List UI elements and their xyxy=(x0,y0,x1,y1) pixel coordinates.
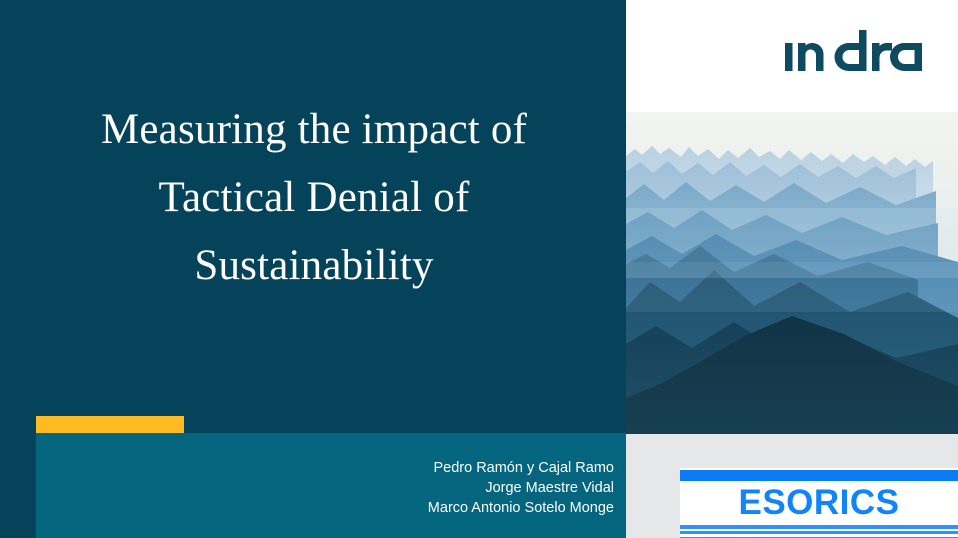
slide-title: Measuring the impact of Tactical Denial … xyxy=(24,96,604,300)
esorics-wordmark: ESORICS xyxy=(680,484,958,522)
mountain-photo xyxy=(626,112,958,434)
esorics-top-bar xyxy=(680,470,958,481)
author-name: Marco Antonio Sotelo Monge xyxy=(294,498,614,518)
author-name: Jorge Maestre Vidal xyxy=(294,478,614,498)
presentation-slide: Measuring the impact of Tactical Denial … xyxy=(0,0,958,538)
indra-logo xyxy=(784,30,924,76)
author-list: Pedro Ramón y Cajal Ramo Jorge Maestre V… xyxy=(294,458,614,518)
esorics-logo: ESORICS xyxy=(680,468,958,538)
author-name: Pedro Ramón y Cajal Ramo xyxy=(294,458,614,478)
accent-bar xyxy=(36,416,184,434)
esorics-rule xyxy=(680,525,958,529)
esorics-rule xyxy=(680,531,958,534)
